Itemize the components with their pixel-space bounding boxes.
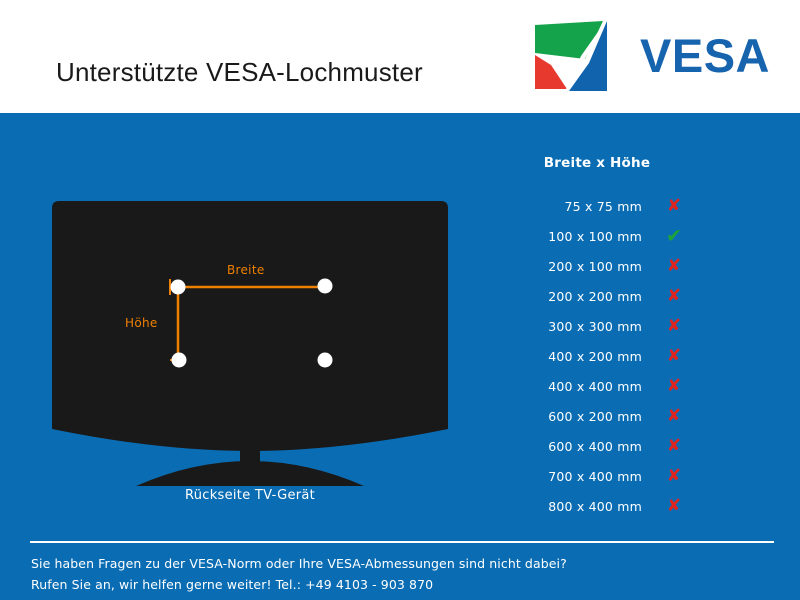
size-label: 600 x 400 mm <box>486 439 642 454</box>
footer-line-1: Sie haben Fragen zu der VESA-Norm oder I… <box>31 553 567 574</box>
unsupported-cross-icon: ✘ <box>642 288 706 305</box>
table-row: 200 x 200 mm✘ <box>486 281 706 311</box>
mount-hole-top-right <box>318 279 333 294</box>
mount-hole-bottom-right <box>318 353 333 368</box>
table-body: 75 x 75 mm✘100 x 100 mm✔200 x 100 mm✘200… <box>486 191 706 521</box>
size-label: 600 x 200 mm <box>486 409 642 424</box>
size-label: 100 x 100 mm <box>486 229 642 244</box>
vesa-logo: VESA <box>533 19 783 93</box>
size-label: 400 x 200 mm <box>486 349 642 364</box>
size-label: 300 x 300 mm <box>486 319 642 334</box>
tv-base <box>136 461 364 486</box>
unsupported-cross-icon: ✘ <box>642 378 706 395</box>
table-row: 200 x 100 mm✘ <box>486 251 706 281</box>
table-row: 100 x 100 mm✔ <box>486 221 706 251</box>
footer-contact: Sie haben Fragen zu der VESA-Norm oder I… <box>31 553 567 595</box>
vesa-info-page: Unterstützte VESA-Lochmuster VESA <box>0 0 800 600</box>
size-label: 400 x 400 mm <box>486 379 642 394</box>
size-label: 800 x 400 mm <box>486 499 642 514</box>
vesa-size-table: Breite x Höhe 75 x 75 mm✘100 x 100 mm✔20… <box>486 155 706 521</box>
table-row: 75 x 75 mm✘ <box>486 191 706 221</box>
vesa-logo-icon <box>533 19 623 93</box>
size-label: 200 x 100 mm <box>486 259 642 274</box>
footer-line-2: Rufen Sie an, wir helfen gerne weiter! T… <box>31 574 567 595</box>
tv-panel <box>52 201 448 451</box>
mount-hole-top-left <box>171 280 186 295</box>
width-label: Breite <box>227 263 265 277</box>
unsupported-cross-icon: ✘ <box>642 348 706 365</box>
size-label: 75 x 75 mm <box>486 199 642 214</box>
table-row: 700 x 400 mm✘ <box>486 461 706 491</box>
size-label: 700 x 400 mm <box>486 469 642 484</box>
table-row: 400 x 400 mm✘ <box>486 371 706 401</box>
size-label: 200 x 200 mm <box>486 289 642 304</box>
table-row: 300 x 300 mm✘ <box>486 311 706 341</box>
unsupported-cross-icon: ✘ <box>642 408 706 425</box>
footer-divider <box>30 541 774 543</box>
table-row: 600 x 200 mm✘ <box>486 401 706 431</box>
page-header: Unterstützte VESA-Lochmuster VESA <box>0 0 800 113</box>
unsupported-cross-icon: ✘ <box>642 258 706 275</box>
tv-diagram: Breite Höhe Rückseite TV-Gerät <box>40 190 460 520</box>
unsupported-cross-icon: ✘ <box>642 318 706 335</box>
mount-hole-bottom-left <box>172 353 187 368</box>
unsupported-cross-icon: ✘ <box>642 498 706 515</box>
page-title: Unterstützte VESA-Lochmuster <box>56 57 423 88</box>
table-row: 400 x 200 mm✘ <box>486 341 706 371</box>
tv-caption: Rückseite TV-Gerät <box>40 488 460 503</box>
table-row: 600 x 400 mm✘ <box>486 431 706 461</box>
table-row: 800 x 400 mm✘ <box>486 491 706 521</box>
table-heading: Breite x Höhe <box>486 155 706 191</box>
vesa-wordmark: VESA <box>640 29 770 83</box>
supported-check-icon: ✔ <box>642 228 706 245</box>
unsupported-cross-icon: ✘ <box>642 468 706 485</box>
tv-illustration <box>40 190 460 490</box>
unsupported-cross-icon: ✘ <box>642 198 706 215</box>
height-label: Höhe <box>125 316 158 330</box>
unsupported-cross-icon: ✘ <box>642 438 706 455</box>
